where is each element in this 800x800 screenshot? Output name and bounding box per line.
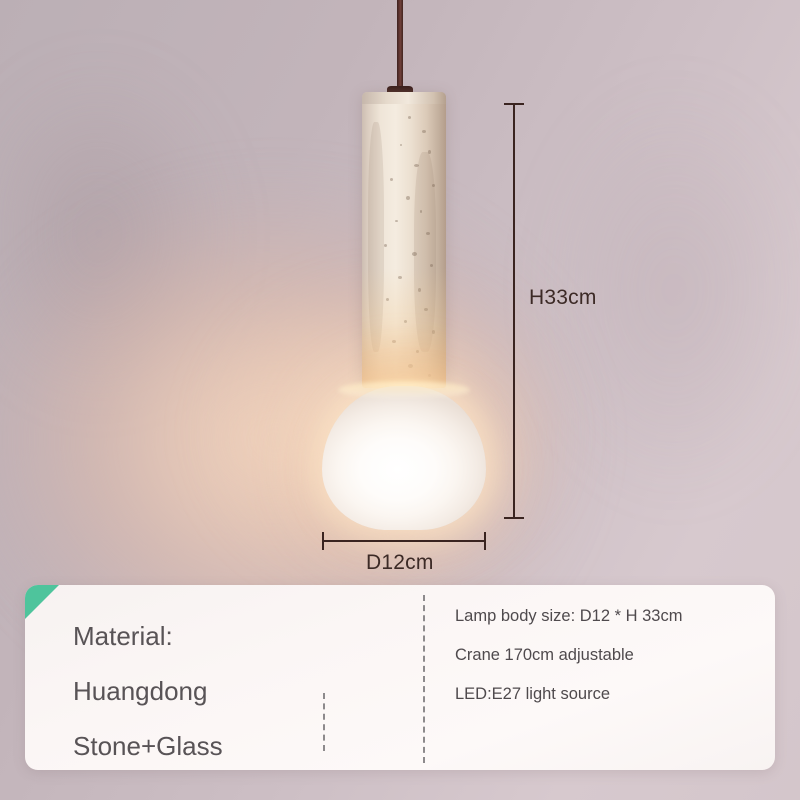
spec-info-panel: Material: Huangdong Stone+Glass Lamp bod… [25,585,775,770]
product-image-canvas: H33cm D12cm Material: Huangdong Stone+Gl… [0,0,800,800]
material-line-1: Material: [73,609,308,664]
height-tick-top [504,103,524,105]
spec-lamp-body-size: Lamp body size: D12 * H 33cm [455,603,755,629]
height-tick-bottom [504,517,524,519]
divider-dashed-tall [423,595,425,763]
stone-cylinder-body [362,92,446,388]
material-block: Material: Huangdong Stone+Glass [73,609,308,770]
spec-light-source: LED:E27 light source [455,681,755,707]
diameter-dimension-line [322,540,486,542]
pendant-cord [397,0,403,96]
height-dimension-line [513,103,515,519]
spec-crane-adjustable: Crane 170cm adjustable [455,642,755,668]
material-line-2: Huangdong [73,664,308,719]
divider-dashed-short [323,693,325,751]
height-dimension-label: H33cm [529,286,597,310]
diameter-tick-left [322,532,324,550]
glass-dome-top-glow [338,382,470,398]
corner-accent-triangle [25,585,59,619]
stone-top-edge [362,92,446,104]
diameter-tick-right [484,532,486,550]
material-line-3: Stone+Glass [73,719,308,770]
glass-dome-diffuser [322,386,486,530]
spec-block: Lamp body size: D12 * H 33cm Crane 170cm… [455,603,755,707]
stone-warm-glow [362,268,446,388]
diameter-dimension-label: D12cm [366,551,434,575]
